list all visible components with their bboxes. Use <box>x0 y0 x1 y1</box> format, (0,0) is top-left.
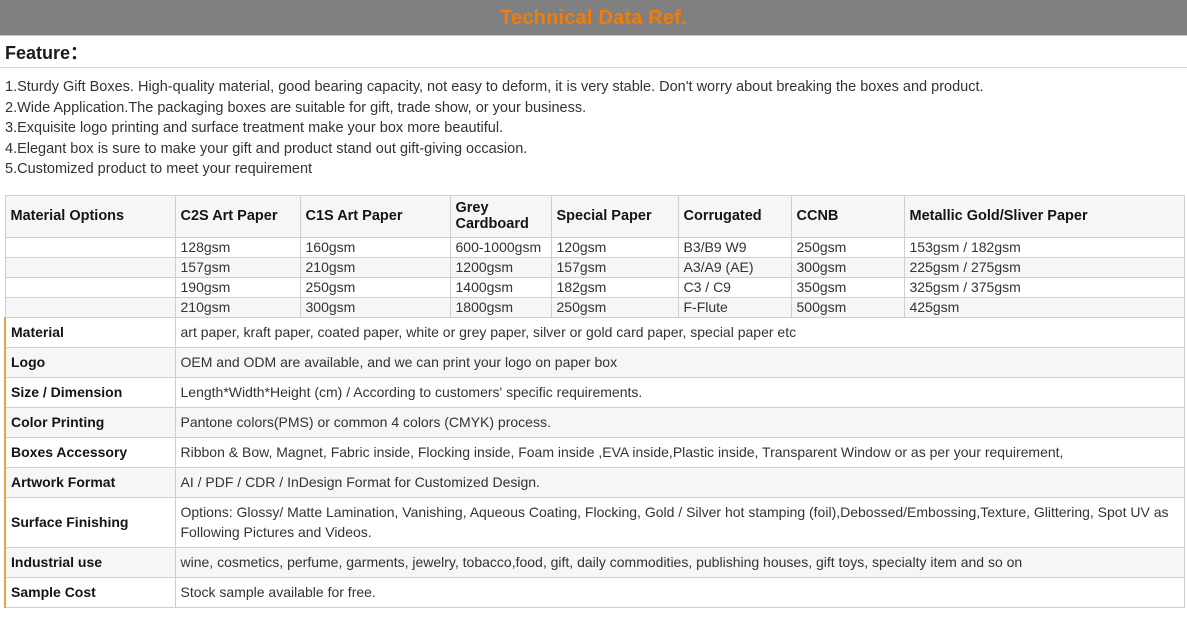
material-table-header-row: Material Options C2S Art Paper C1S Art P… <box>5 195 1184 237</box>
cell-special-paper: 157gsm <box>551 257 678 277</box>
cell-ccnb: 350gsm <box>791 277 904 297</box>
column-header-grey-cardboard: Grey Cardboard <box>450 195 551 237</box>
cell-c2s: 128gsm <box>175 237 300 257</box>
spec-label: Artwork Format <box>5 467 175 497</box>
spec-label: Surface Finishing <box>5 497 175 547</box>
cell-special-paper: 250gsm <box>551 297 678 317</box>
spec-label: Color Printing <box>5 407 175 437</box>
feature-heading: Feature： <box>5 39 88 65</box>
technical-spec-table: Material Options C2S Art Paper C1S Art P… <box>4 195 1185 608</box>
feature-line: 3.Exquisite logo printing and surface tr… <box>5 118 1182 139</box>
feature-list: 1.Sturdy Gift Boxes. High-quality materi… <box>0 68 1187 188</box>
table-row: 157gsm 210gsm 1200gsm 157gsm A3/A9 (AE) … <box>5 257 1184 277</box>
spec-row-size-dimension: Size / Dimension Length*Width*Height (cm… <box>5 377 1184 407</box>
spec-row-boxes-accessory: Boxes Accessory Ribbon & Bow, Magnet, Fa… <box>5 437 1184 467</box>
spec-label: Size / Dimension <box>5 377 175 407</box>
cell-ccnb: 250gsm <box>791 237 904 257</box>
cell-material-options <box>5 257 175 277</box>
spec-value: Pantone colors(PMS) or common 4 colors (… <box>175 407 1184 437</box>
feature-line: 4.Elegant box is sure to make your gift … <box>5 139 1182 160</box>
spec-value: Ribbon & Bow, Magnet, Fabric inside, Flo… <box>175 437 1184 467</box>
cell-metallic: 425gsm <box>904 297 1184 317</box>
spec-row-logo: Logo OEM and ODM are available, and we c… <box>5 347 1184 377</box>
spec-row-artwork-format: Artwork Format AI / PDF / CDR / InDesign… <box>5 467 1184 497</box>
spec-value: Stock sample available for free. <box>175 577 1184 607</box>
cell-special-paper: 120gsm <box>551 237 678 257</box>
cell-c2s: 210gsm <box>175 297 300 317</box>
cell-material-options <box>5 277 175 297</box>
cell-special-paper: 182gsm <box>551 277 678 297</box>
spec-value: OEM and ODM are available, and we can pr… <box>175 347 1184 377</box>
table-row: 210gsm 300gsm 1800gsm 250gsm F-Flute 500… <box>5 297 1184 317</box>
technical-data-page: Technical Data Ref. Feature： 1.Sturdy Gi… <box>0 0 1187 620</box>
cell-corrugated: F-Flute <box>678 297 791 317</box>
column-header-corrugated: Corrugated <box>678 195 791 237</box>
cell-corrugated: C3 / C9 <box>678 277 791 297</box>
cell-metallic: 325gsm / 375gsm <box>904 277 1184 297</box>
spec-label: Material <box>5 317 175 347</box>
cell-grey-cardboard: 1200gsm <box>450 257 551 277</box>
column-header-c2s-art-paper: C2S Art Paper <box>175 195 300 237</box>
feature-line: 2.Wide Application.The packaging boxes a… <box>5 98 1182 119</box>
feature-line: 1.Sturdy Gift Boxes. High-quality materi… <box>5 77 1182 98</box>
table-row: 190gsm 250gsm 1400gsm 182gsm C3 / C9 350… <box>5 277 1184 297</box>
column-header-metallic-gold-sliver-paper: Metallic Gold/Sliver Paper <box>904 195 1184 237</box>
spec-row-sample-cost: Sample Cost Stock sample available for f… <box>5 577 1184 607</box>
column-header-c1s-art-paper: C1S Art Paper <box>300 195 450 237</box>
cell-corrugated: B3/B9 W9 <box>678 237 791 257</box>
cell-ccnb: 500gsm <box>791 297 904 317</box>
cell-corrugated: A3/A9 (AE) <box>678 257 791 277</box>
spec-value: art paper, kraft paper, coated paper, wh… <box>175 317 1184 347</box>
spec-label: Boxes Accessory <box>5 437 175 467</box>
cell-c2s: 190gsm <box>175 277 300 297</box>
cell-metallic: 225gsm / 275gsm <box>904 257 1184 277</box>
spec-value: Options: Glossy/ Matte Lamination, Vanis… <box>175 497 1184 547</box>
column-header-material-options: Material Options <box>5 195 175 237</box>
cell-material-options <box>5 237 175 257</box>
cell-ccnb: 300gsm <box>791 257 904 277</box>
cell-grey-cardboard: 1400gsm <box>450 277 551 297</box>
spec-value: Length*Width*Height (cm) / According to … <box>175 377 1184 407</box>
title-bar: Technical Data Ref. <box>0 0 1187 36</box>
spec-value: AI / PDF / CDR / InDesign Format for Cus… <box>175 467 1184 497</box>
feature-line: 5.Customized product to meet your requir… <box>5 159 1182 180</box>
spec-value: wine, cosmetics, perfume, garments, jewe… <box>175 547 1184 577</box>
cell-c2s: 157gsm <box>175 257 300 277</box>
column-header-ccnb: CCNB <box>791 195 904 237</box>
cell-c1s: 300gsm <box>300 297 450 317</box>
cell-material-options <box>5 297 175 317</box>
spec-row-industrial-use: Industrial use wine, cosmetics, perfume,… <box>5 547 1184 577</box>
cell-grey-cardboard: 1800gsm <box>450 297 551 317</box>
cell-c1s: 160gsm <box>300 237 450 257</box>
cell-metallic: 153gsm / 182gsm <box>904 237 1184 257</box>
spec-row-material: Material art paper, kraft paper, coated … <box>5 317 1184 347</box>
spec-label: Sample Cost <box>5 577 175 607</box>
spec-label: Logo <box>5 347 175 377</box>
cell-c1s: 210gsm <box>300 257 450 277</box>
spec-row-color-printing: Color Printing Pantone colors(PMS) or co… <box>5 407 1184 437</box>
page-title: Technical Data Ref. <box>500 8 687 28</box>
column-header-special-paper: Special Paper <box>551 195 678 237</box>
cell-grey-cardboard: 600-1000gsm <box>450 237 551 257</box>
table-row: 128gsm 160gsm 600-1000gsm 120gsm B3/B9 W… <box>5 237 1184 257</box>
feature-heading-row: Feature： <box>0 36 1187 68</box>
cell-c1s: 250gsm <box>300 277 450 297</box>
spec-row-surface-finishing: Surface Finishing Options: Glossy/ Matte… <box>5 497 1184 547</box>
spec-label: Industrial use <box>5 547 175 577</box>
